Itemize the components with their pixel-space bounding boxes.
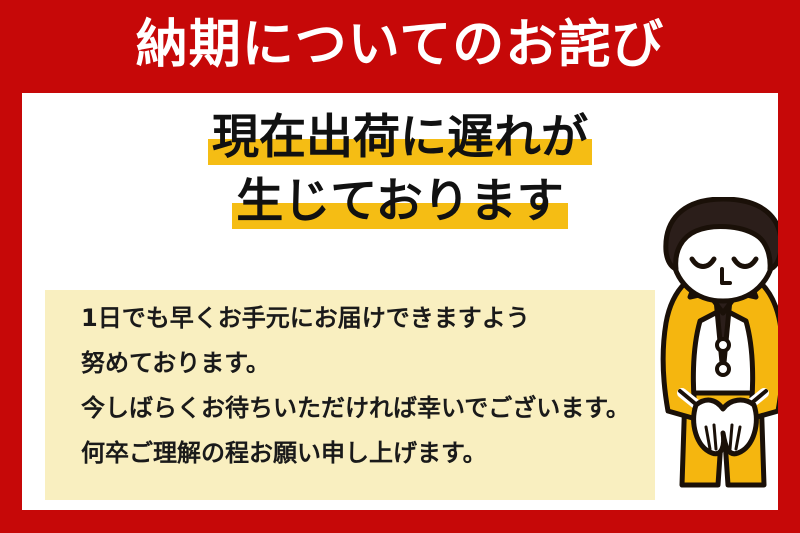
headline-line-2-text: 生じております — [236, 174, 564, 229]
page-title: 納期についてのお詫び — [0, 10, 800, 80]
body-line-3: 今しばらくお待ちいただければ幸いでございます。 — [81, 386, 661, 431]
headline-line-1-text: 現在出荷に遅れが — [212, 110, 588, 165]
apology-notice-poster: 納期についてのお詫び 現在出荷に遅れが 生じております 1日でも早くお手元にお届… — [0, 0, 800, 533]
bowing-businessman-illustration — [630, 197, 778, 503]
header-band: 納期についてのお詫び — [0, 0, 800, 93]
headline-line-1: 現在出荷に遅れが — [212, 107, 588, 169]
body-line-1: 1日でも早くお手元にお届けできますよう — [81, 296, 661, 341]
headline-line-2: 生じております — [236, 171, 564, 233]
content-card: 現在出荷に遅れが 生じております 1日でも早くお手元にお届けできますよう 努めて… — [22, 93, 778, 510]
body-text: 1日でも早くお手元にお届けできますよう 努めております。 今しばらくお待ちいただ… — [81, 296, 661, 476]
body-line-2: 努めております。 — [81, 341, 661, 386]
body-line-4: 何卒ご理解の程お願い申し上げます。 — [81, 431, 661, 476]
body-panel: 1日でも早くお手元にお届けできますよう 努めております。 今しばらくお待ちいただ… — [45, 290, 655, 500]
